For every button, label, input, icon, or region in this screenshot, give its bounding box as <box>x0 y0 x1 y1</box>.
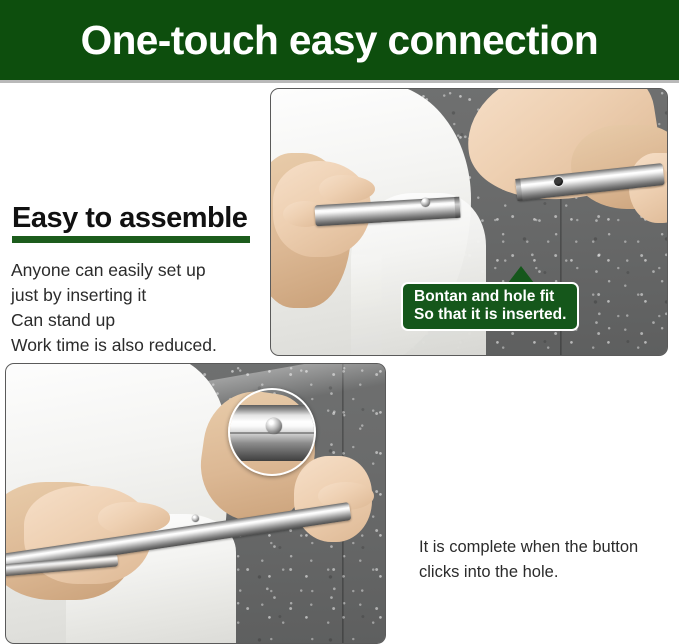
photo-bottom-scene <box>6 364 385 643</box>
callout-line-1: Bontan and hole fit <box>414 288 566 306</box>
header-banner: One-touch easy connection <box>0 0 679 80</box>
callout-line-2: So that it is inserted. <box>414 306 566 324</box>
body-copy: Anyone can easily set up just by inserti… <box>11 258 266 357</box>
callout-label: Bontan and hole fit So that it is insert… <box>401 282 579 331</box>
photo-rod-assembled <box>5 363 386 644</box>
photo-top-scene: Bontan and hole fit So that it is insert… <box>271 89 667 355</box>
banner-title: One-touch easy connection <box>81 20 598 61</box>
body-line-2: just by inserting it <box>11 283 266 308</box>
body-line-1: Anyone can easily set up <box>11 258 266 283</box>
body-line-4: Work time is also reduced. <box>11 333 266 358</box>
left-fingers <box>98 502 170 534</box>
body-line-3: Can stand up <box>11 308 266 333</box>
rod-end-cap <box>515 179 522 201</box>
spring-button-pin <box>421 198 430 207</box>
banner-divider <box>0 80 679 83</box>
inset-button-pin <box>266 418 282 434</box>
caption-line-2: clicks into the hole. <box>419 560 674 585</box>
easy-to-assemble-block: Easy to assemble <box>12 203 252 243</box>
magnifier-inset <box>228 388 316 476</box>
completion-caption: It is complete when the button clicks in… <box>419 535 674 585</box>
heading-underline <box>12 236 250 243</box>
rod-highlight <box>315 202 460 212</box>
receiving-hole <box>554 177 563 186</box>
section-heading: Easy to assemble <box>12 203 252 233</box>
locked-button-pin <box>192 515 199 522</box>
label-pointer-icon <box>508 266 534 283</box>
caption-line-1: It is complete when the button <box>419 535 674 560</box>
photo-rods-aligning: Bontan and hole fit So that it is insert… <box>270 88 668 356</box>
